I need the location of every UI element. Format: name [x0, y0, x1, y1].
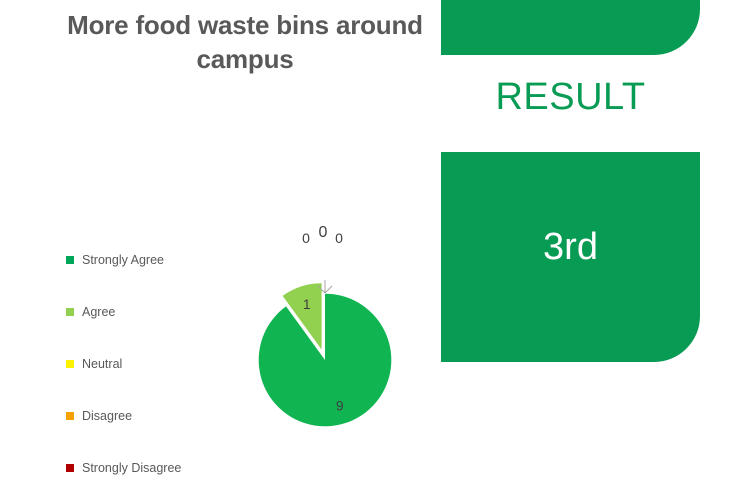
- pie-label-strongly-disagree: 0: [335, 230, 343, 246]
- pie-label-strongly-agree: 9: [336, 397, 344, 413]
- pie-chart[interactable]: 0 0 0 1 9: [228, 205, 428, 465]
- result-rank-value: 3rd: [441, 228, 700, 266]
- legend-swatch-agree: [66, 308, 74, 316]
- pie-label-disagree: 0: [319, 224, 328, 241]
- legend-label-strongly-agree: Strongly Agree: [82, 254, 164, 267]
- pie-slice-strongly-agree[interactable]: [259, 294, 392, 427]
- result-top-accent-bar: [441, 0, 700, 55]
- legend-label-neutral: Neutral: [82, 358, 122, 371]
- pie-chart-svg: 0 0 0 1 9: [228, 205, 428, 465]
- legend-item-neutral[interactable]: Neutral: [66, 338, 226, 390]
- page-title: More food waste bins around campus: [60, 8, 430, 77]
- legend-swatch-neutral: [66, 360, 74, 368]
- legend-label-agree: Agree: [82, 306, 115, 319]
- legend-swatch-strongly-agree: [66, 256, 74, 264]
- pie-label-neutral: 0: [302, 230, 310, 246]
- chart-legend: Strongly Agree Agree Neutral Disagree St…: [66, 234, 226, 494]
- legend-item-disagree[interactable]: Disagree: [66, 390, 226, 442]
- legend-swatch-disagree: [66, 412, 74, 420]
- legend-swatch-strongly-disagree: [66, 464, 74, 472]
- leader-line-disagree: [325, 286, 332, 293]
- legend-label-disagree: Disagree: [82, 410, 132, 423]
- result-panel: RESULT 3rd: [441, 0, 729, 487]
- legend-item-strongly-agree[interactable]: Strongly Agree: [66, 234, 226, 286]
- legend-item-agree[interactable]: Agree: [66, 286, 226, 338]
- pie-label-agree: 1: [303, 296, 311, 312]
- legend-label-strongly-disagree: Strongly Disagree: [82, 462, 181, 475]
- result-heading: RESULT: [441, 78, 700, 116]
- result-rank-box: 3rd: [441, 152, 700, 362]
- legend-item-strongly-disagree[interactable]: Strongly Disagree: [66, 442, 226, 494]
